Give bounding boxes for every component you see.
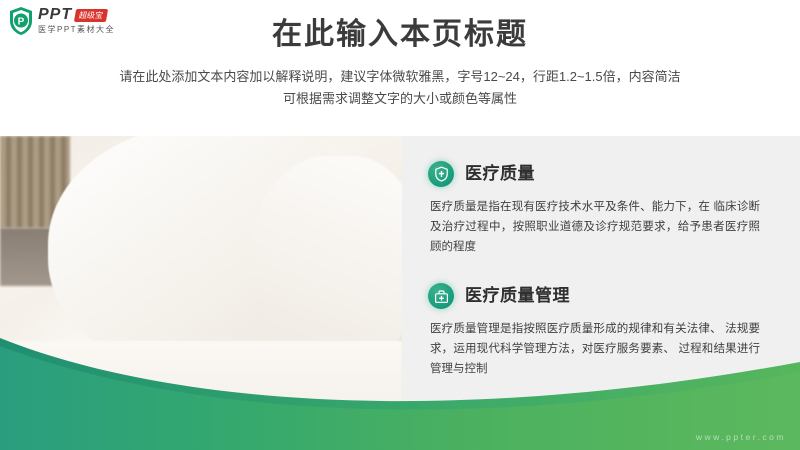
shield-cross-icon [428, 161, 454, 187]
slide-root: P PPT 超级宝 医学PPT素材大全 在此输入本页标题 请在此处添加文本内容加… [0, 0, 800, 450]
decorative-wave: www.ppter.com [0, 310, 800, 450]
subtitle-line-2: 可根据需求调整文字的大小或颜色等属性 [0, 88, 800, 110]
content-block-quality: 医疗质量 医疗质量是指在现有医疗技术水平及条件、能力下，在 临床诊断及治疗过程中… [428, 160, 778, 257]
page-subtitle: 请在此处添加文本内容加以解释说明，建议字体微软雅黑，字号12~24，行距1.2~… [0, 66, 800, 110]
block-text: 医疗质量是指在现有医疗技术水平及条件、能力下，在 临床诊断及治疗过程中，按照职业… [430, 197, 760, 257]
block-title: 医疗质量管理 [465, 285, 570, 307]
block-heading: 医疗质量 [428, 160, 778, 188]
block-title: 医疗质量 [465, 163, 535, 185]
medical-kit-icon [428, 283, 454, 309]
footer-watermark: www.ppter.com [696, 432, 786, 442]
subtitle-line-1: 请在此处添加文本内容加以解释说明，建议字体微软雅黑，字号12~24，行距1.2~… [0, 66, 800, 88]
block-heading: 医疗质量管理 [428, 282, 778, 310]
page-title: 在此输入本页标题 [0, 16, 800, 54]
